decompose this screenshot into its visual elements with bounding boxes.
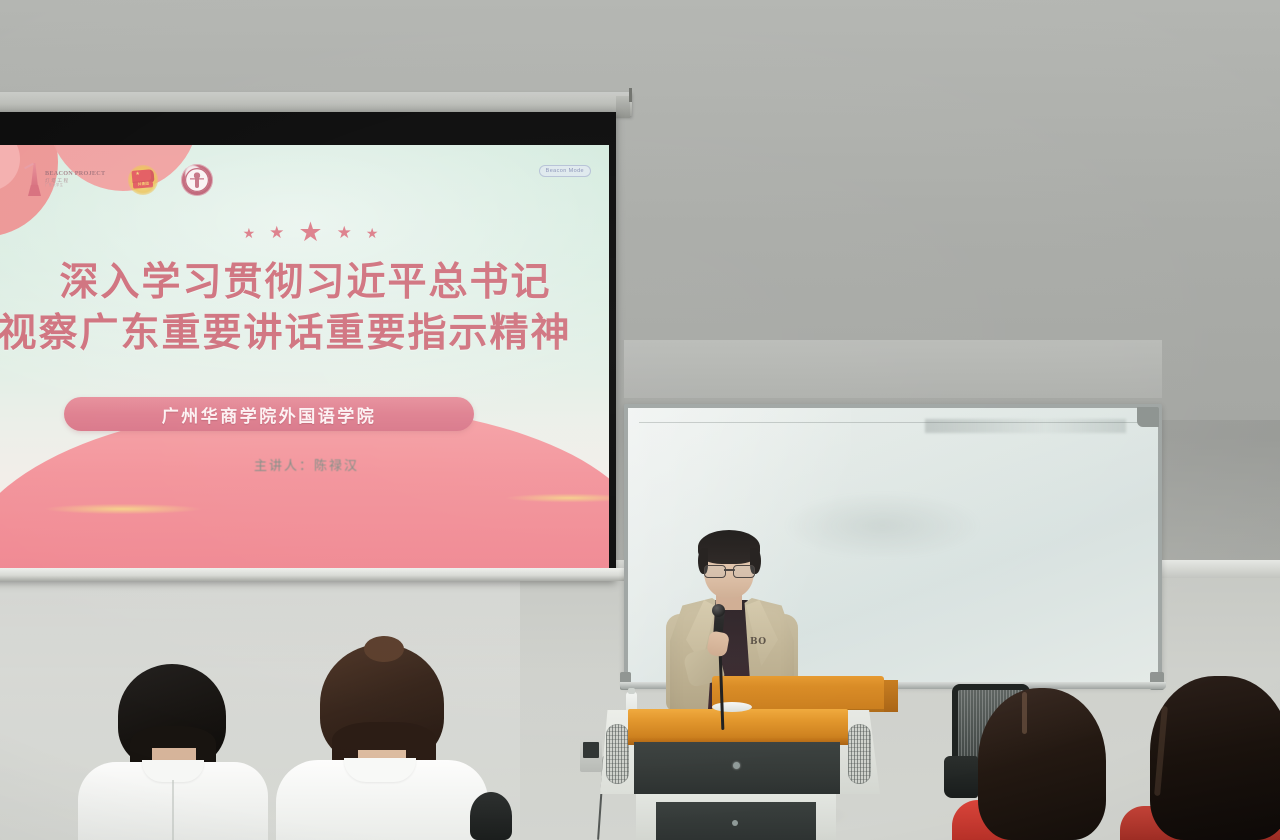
communist-youth-league-emblem: ★ 共青团 bbox=[128, 165, 158, 195]
lectern-upper-panel-side bbox=[884, 680, 898, 712]
audience-member-front-left-seam bbox=[172, 780, 174, 840]
slide-subtitle-pill: 广州华商学院外国语学院 bbox=[64, 397, 474, 431]
audience-member-front-right-2-hair bbox=[1150, 676, 1280, 840]
slide-title-line-2: 视察广东重要讲话重要指示精神 bbox=[0, 308, 609, 359]
lectern-knob bbox=[733, 762, 740, 769]
chair-headrest bbox=[470, 792, 512, 840]
projector-screen-housing-cap bbox=[616, 96, 630, 118]
slide-subtitle-text: 广州华商学院外国语学院 bbox=[162, 402, 377, 427]
microphone-capsule bbox=[712, 604, 725, 617]
wall-panel-above-whiteboard bbox=[624, 340, 1162, 398]
water-bottle-cap bbox=[628, 688, 635, 694]
projector-screen-mount-pin bbox=[629, 88, 632, 102]
lecture-hall-photo: BEACON PROJECT 灯塔工程 广东大学生 ★ 共青团 Beacon M… bbox=[0, 0, 1280, 840]
university-emblem bbox=[181, 164, 213, 196]
audience-member-front-right-hair-part bbox=[1022, 692, 1027, 734]
wall-outlet-socket bbox=[583, 742, 599, 758]
whiteboard-smudge bbox=[925, 419, 1126, 433]
audience-member-front-left-collar bbox=[142, 760, 204, 782]
lectern-speaker-grille-left bbox=[606, 724, 629, 784]
beacon-project-logo: BEACON PROJECT 灯塔工程 广东大学生 bbox=[28, 163, 105, 196]
star-icon: ★ bbox=[135, 172, 139, 177]
beacon-logo-en: BEACON PROJECT bbox=[45, 171, 105, 177]
audience-member-front-left-2-collar bbox=[344, 758, 416, 782]
white-plate bbox=[712, 702, 752, 712]
slide-presenter-line: 主讲人：陈禄汉 bbox=[0, 455, 609, 474]
star-icon-3: ★ bbox=[298, 219, 322, 246]
presentation-slide: BEACON PROJECT 灯塔工程 广东大学生 ★ 共青团 Beacon M… bbox=[0, 145, 609, 570]
slide-gold-streak-left bbox=[18, 502, 228, 516]
whiteboard-corner-bracket bbox=[1137, 407, 1159, 427]
beacon-project-logo-text: BEACON PROJECT 灯塔工程 广东大学生 bbox=[45, 171, 105, 187]
star-icon-5: ★ bbox=[366, 226, 379, 240]
star-icon-2: ★ bbox=[269, 224, 284, 241]
eyeglasses-bridge bbox=[724, 569, 735, 571]
university-emblem-glyph bbox=[190, 172, 204, 188]
audience-member-front-right-hair bbox=[978, 688, 1106, 840]
star-icon-4: ★ bbox=[337, 224, 352, 241]
lectern-lower-knob bbox=[732, 820, 738, 826]
eyeglasses-icon bbox=[703, 565, 756, 576]
slide-logo-row: BEACON PROJECT 灯塔工程 广东大学生 ★ 共青团 bbox=[28, 163, 213, 196]
slide-star-row: ★ ★ ★ ★ ★ bbox=[0, 219, 609, 246]
star-icon-1: ★ bbox=[243, 226, 256, 240]
beacon-logo-cn-sub: 广东大学生 bbox=[45, 184, 105, 187]
lectern-speaker-grille-right bbox=[848, 724, 871, 784]
presenter-jacket-patch: BO bbox=[750, 636, 776, 649]
lectern bbox=[600, 676, 930, 840]
slide-watermark: Beacon Mode bbox=[539, 165, 591, 177]
emblem-band-label: 共青团 bbox=[134, 181, 153, 187]
office-chair-armrest bbox=[944, 756, 978, 798]
lighthouse-icon bbox=[28, 163, 41, 196]
slide-title: 深入学习贯彻习近平总书记 视察广东重要讲话重要指示精神 bbox=[0, 257, 609, 358]
projector-screen-bottom-bar bbox=[0, 568, 628, 581]
slide-title-line-1: 深入学习贯彻习近平总书记 bbox=[2, 257, 609, 308]
audience-member-front-left-2-bun bbox=[364, 636, 404, 662]
